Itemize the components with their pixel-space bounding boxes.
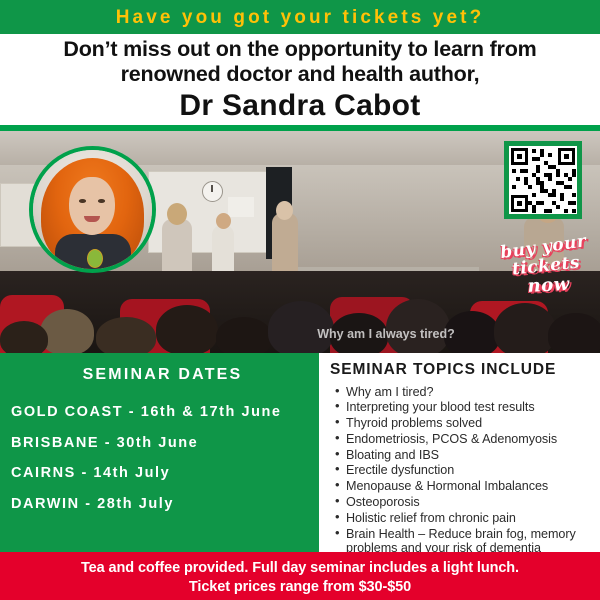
flyer-poster: Have you got your tickets yet? Don’t mis… bbox=[0, 0, 600, 600]
footer-line-2: Ticket prices range from $30-$50 bbox=[0, 578, 600, 597]
audience-head bbox=[40, 309, 94, 353]
topic-item: Erectile dysfunction bbox=[346, 463, 594, 478]
seminar-topics-title: SEMINAR TOPICS INCLUDE bbox=[330, 362, 594, 378]
headline-line-1: Don’t miss out on the opportunity to lea… bbox=[0, 37, 600, 62]
topic-item: Interpreting your blood test results bbox=[346, 400, 594, 415]
top-banner: Have you got your tickets yet? bbox=[0, 0, 600, 34]
seminar-dates-title: SEMINAR DATES bbox=[0, 367, 319, 383]
attendee-standing bbox=[162, 219, 192, 277]
footer-banner: Tea and coffee provided. Full day semina… bbox=[0, 552, 600, 600]
screen-caption-text: Why am I always tired? bbox=[296, 327, 476, 341]
wall-picture-frame bbox=[228, 197, 254, 217]
topic-item: Why am I tired? bbox=[346, 385, 594, 400]
topic-item: Endometriosis, PCOS & Adenomyosis bbox=[346, 432, 594, 447]
seminar-dates-panel: SEMINAR DATES GOLD COAST - 16th & 17th J… bbox=[0, 353, 319, 552]
topic-item: Thyroid problems solved bbox=[346, 416, 594, 431]
attendee-standing bbox=[212, 225, 234, 271]
attendee-standing bbox=[272, 213, 298, 275]
speaker-name: Dr Sandra Cabot bbox=[0, 87, 600, 125]
qr-finder-icon bbox=[558, 148, 575, 165]
headline-line-2: renowned doctor and health author, bbox=[0, 62, 600, 87]
portrait-eye bbox=[98, 199, 105, 203]
portrait-eye bbox=[79, 199, 86, 203]
audience-head bbox=[156, 305, 218, 353]
qr-code[interactable] bbox=[504, 141, 582, 219]
qr-finder-icon bbox=[511, 195, 528, 212]
portrait-face bbox=[69, 177, 115, 235]
attendee-standing bbox=[524, 217, 564, 277]
seminar-date-row: CAIRNS - 14th July bbox=[0, 466, 319, 481]
topic-item: Holistic relief from chronic pain bbox=[346, 511, 594, 526]
seminar-date-row: GOLD COAST - 16th & 17th June bbox=[0, 405, 319, 420]
qr-finder-icon bbox=[511, 148, 528, 165]
wall-clock-icon bbox=[202, 181, 223, 202]
seminar-topics-list: Why am I tired? Interpreting your blood … bbox=[330, 385, 594, 556]
attendee-head bbox=[276, 201, 293, 220]
audience-head bbox=[548, 313, 600, 353]
topic-item: Osteoporosis bbox=[346, 495, 594, 510]
audience-head bbox=[0, 321, 48, 353]
topic-item: Menopause & Hormonal Imbalances bbox=[346, 479, 594, 494]
audience-head bbox=[216, 317, 272, 353]
topic-item: Bloating and IBS bbox=[346, 448, 594, 463]
headline-block: Don’t miss out on the opportunity to lea… bbox=[0, 34, 600, 125]
seminar-photo: Why am I always tired? bbox=[0, 131, 600, 353]
attendee-head bbox=[167, 203, 187, 225]
seminar-date-row: DARWIN - 28th July bbox=[0, 497, 319, 512]
audience-head bbox=[494, 303, 556, 353]
footer-line-1: Tea and coffee provided. Full day semina… bbox=[0, 559, 600, 578]
seminar-topics-panel: SEMINAR TOPICS INCLUDE Why am I tired? I… bbox=[321, 353, 600, 552]
audience-head bbox=[96, 317, 156, 353]
seminar-date-row: BRISBANE - 30th June bbox=[0, 436, 319, 451]
portrait-pendant bbox=[87, 249, 103, 268]
speaker-portrait-avatar bbox=[29, 146, 156, 273]
qr-code-pattern bbox=[509, 146, 577, 214]
top-banner-text: Have you got your tickets yet? bbox=[116, 8, 485, 27]
attendee-head bbox=[216, 213, 231, 229]
